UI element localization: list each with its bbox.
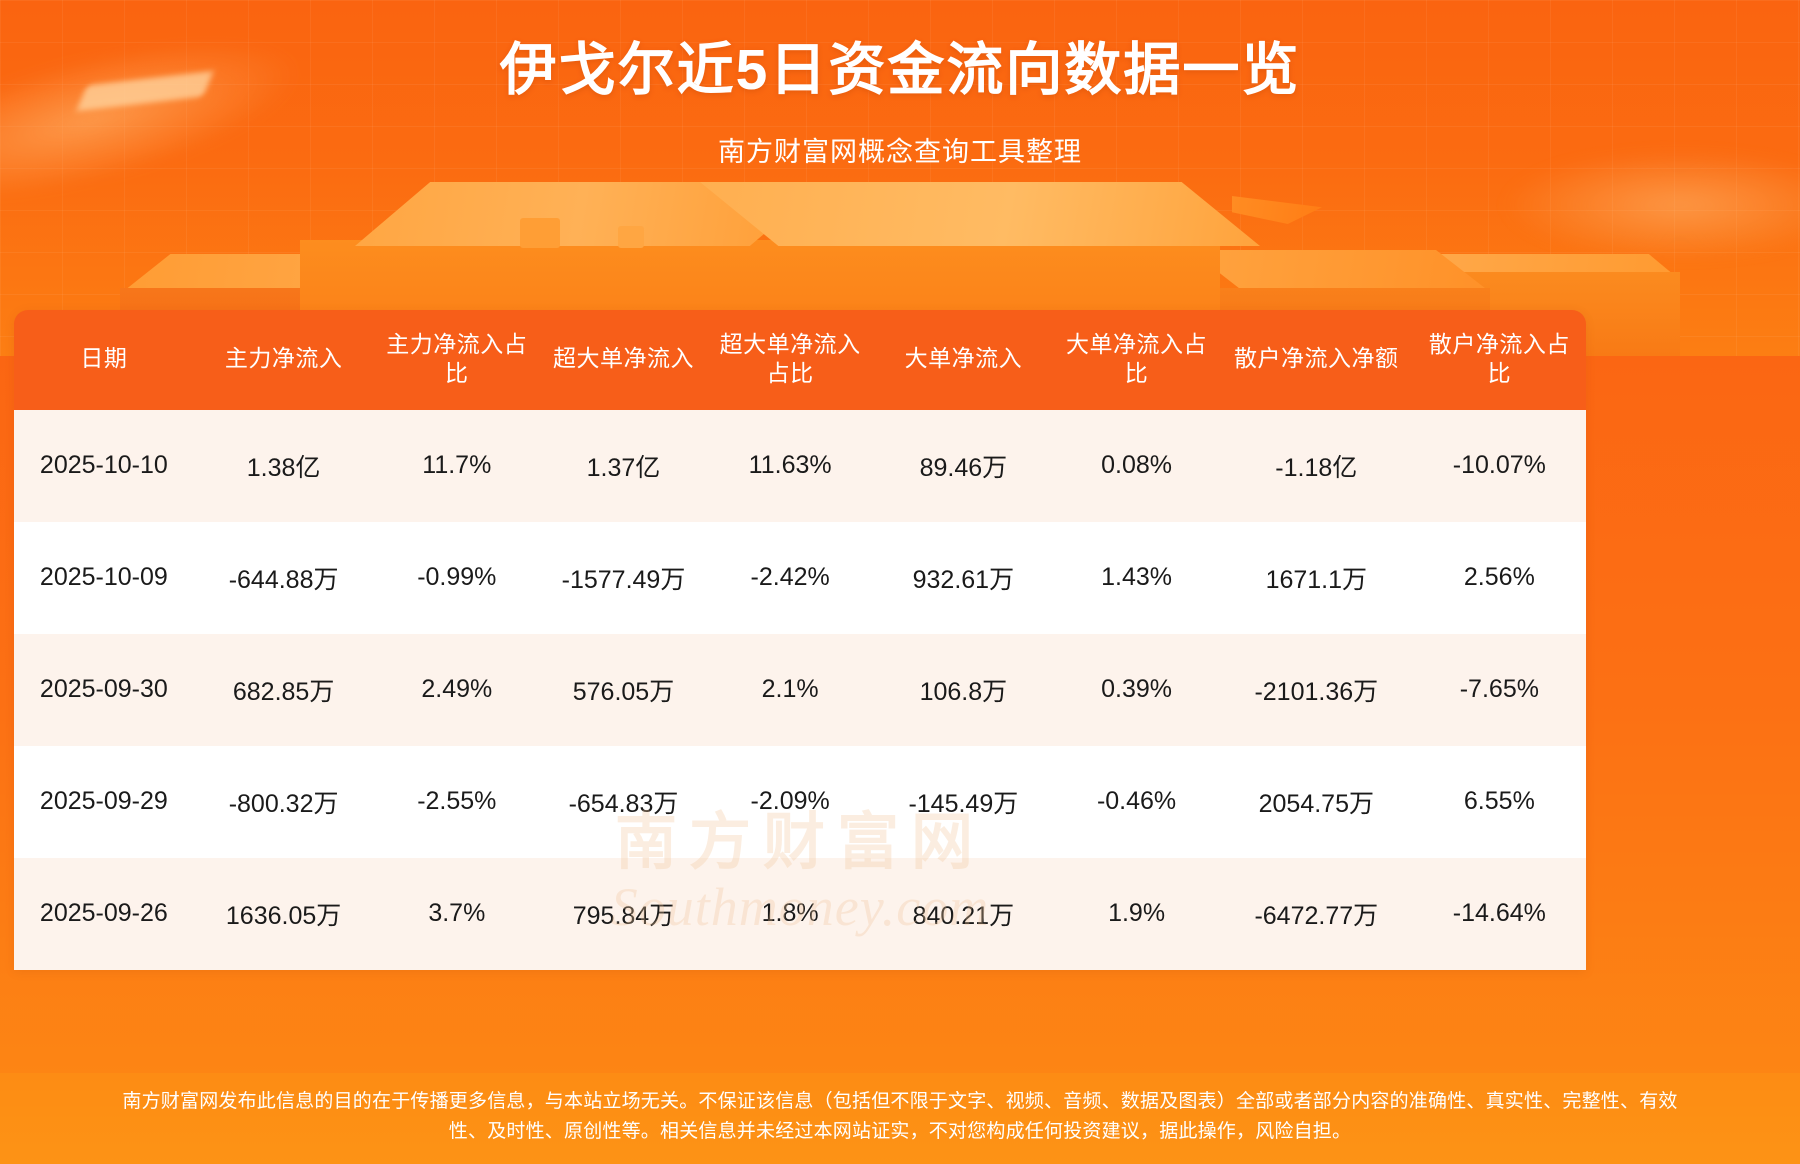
cell-retail-net: 1671.1万: [1220, 522, 1413, 634]
fund-flow-table: 日期 主力净流入 主力净流入占比 超大单净流入 超大单净流入占比 大单净流入 大…: [14, 310, 1586, 970]
cell-lg-net: 89.46万: [873, 410, 1053, 522]
cell-retail-net: -1.18亿: [1220, 410, 1413, 522]
column-header-xl-net[interactable]: 超大单净流入: [540, 310, 707, 410]
cell-lg-net: -145.49万: [873, 746, 1053, 858]
column-header-main-net[interactable]: 主力净流入: [194, 310, 374, 410]
cell-retail-pct: -14.64%: [1413, 858, 1586, 970]
cell-date: 2025-10-10: [14, 410, 194, 522]
cell-date: 2025-09-30: [14, 634, 194, 746]
cell-retail-pct: 2.56%: [1413, 522, 1586, 634]
cell-retail-pct: -10.07%: [1413, 410, 1586, 522]
cell-xl-net: 795.84万: [540, 858, 707, 970]
cell-xl-net: -654.83万: [540, 746, 707, 858]
fund-flow-table-card: 南方财富网 Southmoney.com 日期 主力净流入 主力净流入占比 超大…: [14, 310, 1586, 970]
cell-xl-net: 576.05万: [540, 634, 707, 746]
cell-retail-net: -2101.36万: [1220, 634, 1413, 746]
page-subtitle: 南方财富网概念查询工具整理: [0, 130, 1800, 169]
column-header-date[interactable]: 日期: [14, 310, 194, 410]
podium-stub-a: [520, 218, 560, 248]
cell-retail-net: 2054.75万: [1220, 746, 1413, 858]
column-header-retail-pct[interactable]: 散户净流入占比: [1413, 310, 1586, 410]
table-row: 2025-10-10 1.38亿 11.7% 1.37亿 11.63% 89.4…: [14, 410, 1586, 522]
table-body: 2025-10-10 1.38亿 11.7% 1.37亿 11.63% 89.4…: [14, 410, 1586, 970]
column-header-retail-net[interactable]: 散户净流入净额: [1220, 310, 1413, 410]
table-row: 2025-09-26 1636.05万 3.7% 795.84万 1.8% 84…: [14, 858, 1586, 970]
podium-stub-b: [618, 226, 644, 248]
cell-date: 2025-09-29: [14, 746, 194, 858]
page-root: 伊戈尔近5日资金流向数据一览 南方财富网概念查询工具整理 南方财富网 South…: [0, 0, 1800, 1164]
table-row: 2025-09-29 -800.32万 -2.55% -654.83万 -2.0…: [14, 746, 1586, 858]
cell-lg-net: 106.8万: [873, 634, 1053, 746]
cell-main-net: 1636.05万: [194, 858, 374, 970]
cell-main-pct: -0.99%: [373, 522, 540, 634]
cell-main-pct: 2.49%: [373, 634, 540, 746]
cell-lg-net: 932.61万: [873, 522, 1053, 634]
cell-lg-net: 840.21万: [873, 858, 1053, 970]
cell-xl-pct: 2.1%: [707, 634, 874, 746]
cell-date: 2025-10-09: [14, 522, 194, 634]
table-header-row: 日期 主力净流入 主力净流入占比 超大单净流入 超大单净流入占比 大单净流入 大…: [14, 310, 1586, 410]
cell-retail-net: -6472.77万: [1220, 858, 1413, 970]
cell-main-net: -644.88万: [194, 522, 374, 634]
cell-main-pct: 3.7%: [373, 858, 540, 970]
podium-chip: [1232, 196, 1322, 224]
table-row: 2025-09-30 682.85万 2.49% 576.05万 2.1% 10…: [14, 634, 1586, 746]
cell-lg-pct: -0.46%: [1053, 746, 1220, 858]
cell-retail-pct: -7.65%: [1413, 634, 1586, 746]
cell-xl-net: 1.37亿: [540, 410, 707, 522]
podium-block-main-top-right: [700, 182, 1260, 246]
disclaimer-footer: 南方财富网发布此信息的目的在于传播更多信息，与本站立场无关。不保证该信息（包括但…: [0, 1073, 1800, 1164]
cell-xl-pct: -2.42%: [707, 522, 874, 634]
cell-date: 2025-09-26: [14, 858, 194, 970]
cell-main-net: -800.32万: [194, 746, 374, 858]
cell-lg-pct: 1.43%: [1053, 522, 1220, 634]
cell-xl-net: -1577.49万: [540, 522, 707, 634]
cell-lg-pct: 1.9%: [1053, 858, 1220, 970]
disclaimer-line-2: 性、及时性、原创性等。相关信息并未经过本网站证实，不对您构成任何投资建议，据此操…: [16, 1117, 1784, 1146]
title-block: 伊戈尔近5日资金流向数据一览 南方财富网概念查询工具整理: [0, 36, 1800, 169]
cell-lg-pct: 0.39%: [1053, 634, 1220, 746]
cell-xl-pct: 11.63%: [707, 410, 874, 522]
cell-main-net: 1.38亿: [194, 410, 374, 522]
column-header-xl-pct[interactable]: 超大单净流入占比: [707, 310, 874, 410]
cell-xl-pct: 1.8%: [707, 858, 874, 970]
cell-retail-pct: 6.55%: [1413, 746, 1586, 858]
cell-main-net: 682.85万: [194, 634, 374, 746]
disclaimer-line-1: 南方财富网发布此信息的目的在于传播更多信息，与本站立场无关。不保证该信息（包括但…: [16, 1087, 1784, 1116]
cell-lg-pct: 0.08%: [1053, 410, 1220, 522]
page-title: 伊戈尔近5日资金流向数据一览: [0, 36, 1800, 104]
column-header-lg-net[interactable]: 大单净流入: [873, 310, 1053, 410]
table-row: 2025-10-09 -644.88万 -0.99% -1577.49万 -2.…: [14, 522, 1586, 634]
cell-xl-pct: -2.09%: [707, 746, 874, 858]
cell-main-pct: -2.55%: [373, 746, 540, 858]
table-header: 日期 主力净流入 主力净流入占比 超大单净流入 超大单净流入占比 大单净流入 大…: [14, 310, 1586, 410]
column-header-lg-pct[interactable]: 大单净流入占比: [1053, 310, 1220, 410]
cell-main-pct: 11.7%: [373, 410, 540, 522]
column-header-main-pct[interactable]: 主力净流入占比: [373, 310, 540, 410]
